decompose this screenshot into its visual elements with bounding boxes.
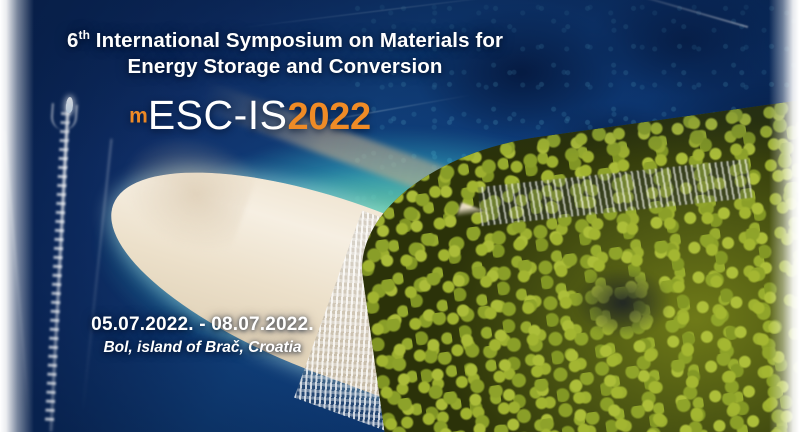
logo-prefix-m: m: [129, 105, 148, 128]
edition-number: 6: [67, 29, 79, 52]
symposium-title-line-2: Energy Storage and Conversion: [0, 54, 570, 80]
title-line-1-rest: International Symposium on Materials for: [90, 29, 503, 52]
conference-banner: 6th International Symposium on Materials…: [0, 0, 799, 432]
logo-year: 2022: [288, 96, 371, 138]
edition-ordinal-suffix: th: [78, 28, 90, 42]
event-dates: 05.07.2022. - 08.07.2022.: [0, 312, 405, 337]
event-location: Bol, island of Brač, Croatia: [0, 337, 405, 359]
mesc-is-logo: mESC-IS2022: [0, 92, 500, 139]
event-details: 05.07.2022. - 08.07.2022. Bol, island of…: [0, 312, 405, 359]
symposium-title-line-1: 6th International Symposium on Materials…: [0, 22, 570, 54]
logo-wordmark: ESC-IS: [148, 92, 288, 138]
symposium-title: 6th International Symposium on Materials…: [0, 22, 570, 80]
text-overlay: 6th International Symposium on Materials…: [0, 0, 799, 432]
